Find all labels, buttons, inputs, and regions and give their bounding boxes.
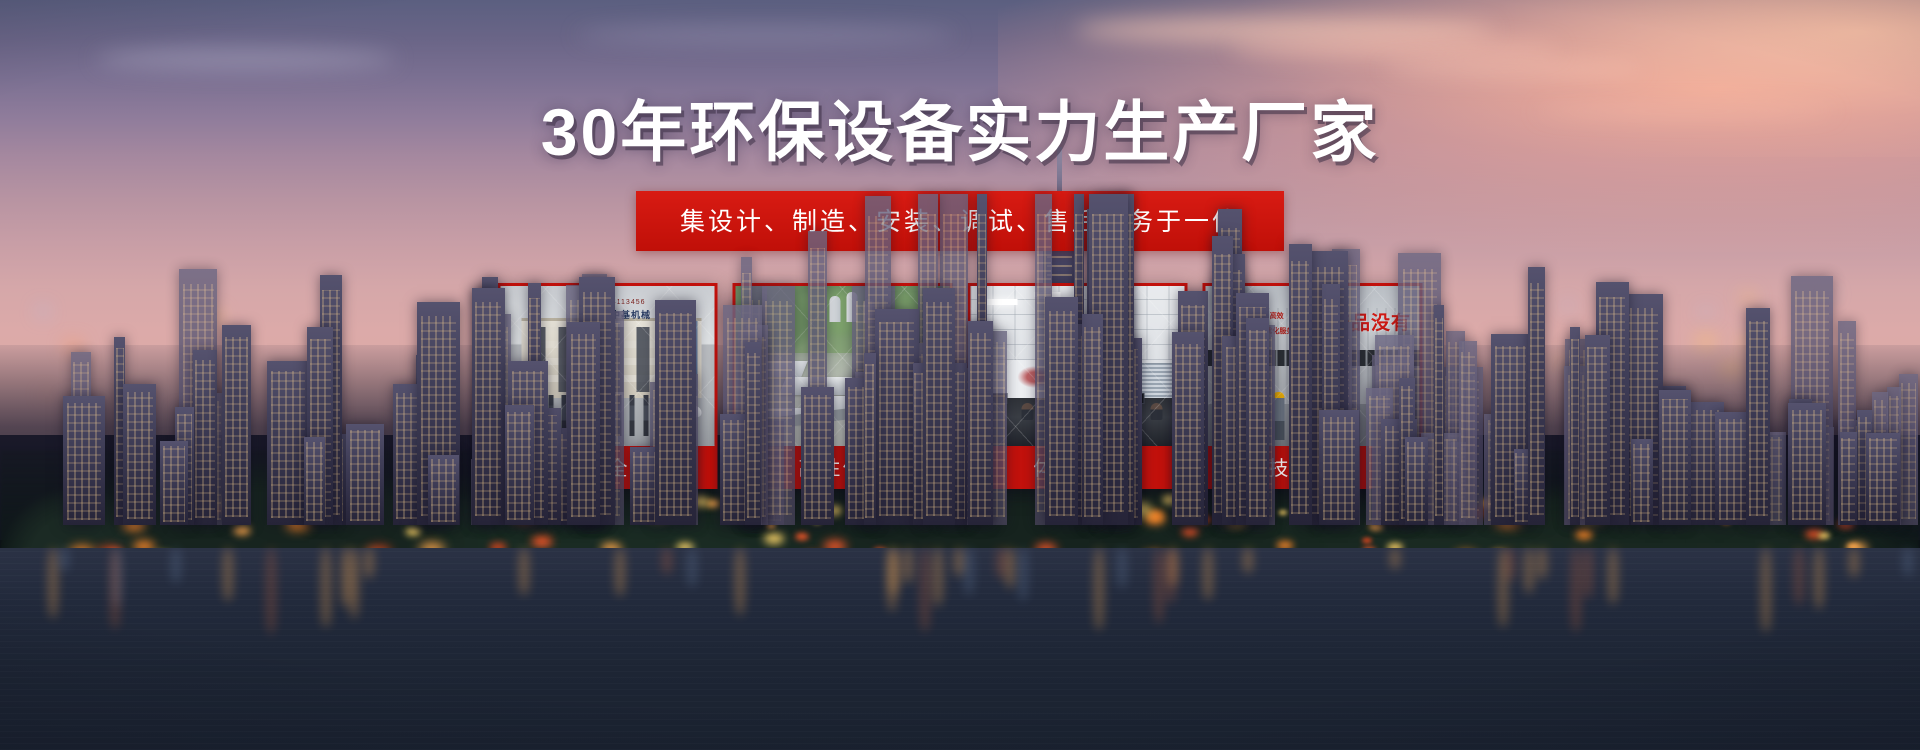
water-reflection <box>889 548 899 595</box>
building-light-glow <box>1742 293 1754 301</box>
skyline-building <box>1319 410 1359 525</box>
bank-light <box>233 526 250 536</box>
water-reflection <box>933 548 943 606</box>
water-reflection <box>1794 548 1804 606</box>
bank-light <box>1575 530 1592 540</box>
water-reflection <box>1005 548 1015 589</box>
bank-light <box>405 527 420 536</box>
cloud <box>576 26 956 44</box>
skyline-building <box>801 387 835 525</box>
skyline-building <box>304 437 325 525</box>
water-reflection <box>59 548 69 572</box>
cloud <box>1229 39 1559 59</box>
hero-banner: 30年环保设备实力生产厂家 集设计、制造、安装、调试、售后服务于一体 中基机械 … <box>0 0 1920 750</box>
skyline-building <box>1659 390 1692 525</box>
skyline-building <box>1289 244 1312 525</box>
water-reflection <box>662 548 672 575</box>
skyline-building <box>1585 335 1610 525</box>
bank-light <box>1362 538 1372 544</box>
silo <box>830 296 841 322</box>
skyline-building <box>1570 327 1581 525</box>
water-reflection <box>1390 548 1400 569</box>
skyline-building <box>1746 308 1770 525</box>
bank-light <box>1182 527 1198 536</box>
cloud <box>1382 61 1642 77</box>
water-reflection <box>1524 548 1534 594</box>
skyline-building <box>864 353 875 525</box>
skyline-building <box>1434 305 1444 525</box>
water-reflection <box>687 548 697 587</box>
building-phone-label: 4113456 <box>612 299 646 306</box>
water-reflection <box>321 548 331 627</box>
bank-light <box>1818 532 1830 539</box>
workshop-slogan: 高效 <box>1270 313 1284 321</box>
skyline-building <box>655 300 696 525</box>
building-light-glow <box>38 306 48 317</box>
water-reflection <box>1903 548 1913 577</box>
bank-light <box>764 533 784 544</box>
bank-light <box>1279 510 1288 515</box>
skyline-building <box>1045 297 1078 525</box>
water-reflection <box>349 548 359 618</box>
water-reflection <box>1094 548 1104 630</box>
water-reflection <box>1571 548 1581 633</box>
water-reflection <box>1498 548 1508 628</box>
skyline-building <box>1631 439 1652 525</box>
skyline-building <box>472 288 505 525</box>
skyline-building <box>1172 332 1204 525</box>
skyline-building <box>63 396 105 525</box>
skyline-building <box>123 384 156 525</box>
skyline-building <box>160 441 188 525</box>
water-reflection <box>1166 548 1176 603</box>
water-reflection <box>223 548 233 601</box>
water-reflection <box>1154 548 1164 624</box>
water-reflection <box>1117 548 1127 589</box>
seated-person <box>1022 403 1034 420</box>
water-reflection <box>110 548 120 630</box>
skyline-building <box>1899 374 1919 525</box>
bank-light <box>795 533 808 541</box>
water-reflection <box>954 548 964 577</box>
ceiling-lamp <box>983 299 1017 305</box>
water-reflection <box>1814 548 1824 610</box>
river-water <box>0 548 1920 750</box>
skyline-building <box>1459 341 1477 525</box>
skyline-building <box>1840 432 1857 525</box>
water-reflection <box>48 548 58 618</box>
water-reflection <box>735 548 745 615</box>
building-light-glow <box>1563 302 1573 310</box>
water-reflection <box>920 548 930 633</box>
skyline-building <box>428 455 459 525</box>
water-reflection <box>615 548 625 597</box>
water-reflection <box>1537 548 1547 580</box>
water-reflection <box>364 548 374 578</box>
bank-light <box>532 536 553 548</box>
water-reflection <box>519 548 529 596</box>
skyline-building <box>1528 267 1545 525</box>
water-reflection <box>996 548 1006 578</box>
skyline-building <box>968 321 994 525</box>
page-title: 30年环保设备实力生产厂家 <box>0 98 1920 167</box>
skyline-building <box>1082 314 1103 525</box>
water-reflection <box>964 548 974 596</box>
water-reflection <box>1203 548 1213 600</box>
water-reflection <box>903 548 913 583</box>
water-reflection <box>1608 548 1618 605</box>
skyline-building <box>1246 318 1269 525</box>
skyline-building <box>346 424 384 525</box>
skyline-building <box>567 322 599 525</box>
seated-person <box>1150 403 1162 420</box>
skyline-building <box>222 325 251 525</box>
water-reflection <box>1849 548 1859 578</box>
skyline-building <box>1788 403 1825 525</box>
water-reflection <box>1018 548 1028 602</box>
water-reflection <box>1583 548 1593 599</box>
cloud <box>96 48 396 70</box>
skyline-building <box>1405 437 1428 525</box>
water-reflection <box>1243 548 1253 573</box>
skyline-building <box>193 350 217 525</box>
skyline-building <box>923 288 955 525</box>
water-reflection <box>1761 548 1771 632</box>
water-reflection <box>171 548 181 583</box>
water-reflection <box>266 548 276 634</box>
skyline-building <box>1866 433 1900 526</box>
skyline-building <box>505 405 534 525</box>
skyline-building <box>745 342 761 525</box>
building-light-glow <box>1699 309 1713 315</box>
